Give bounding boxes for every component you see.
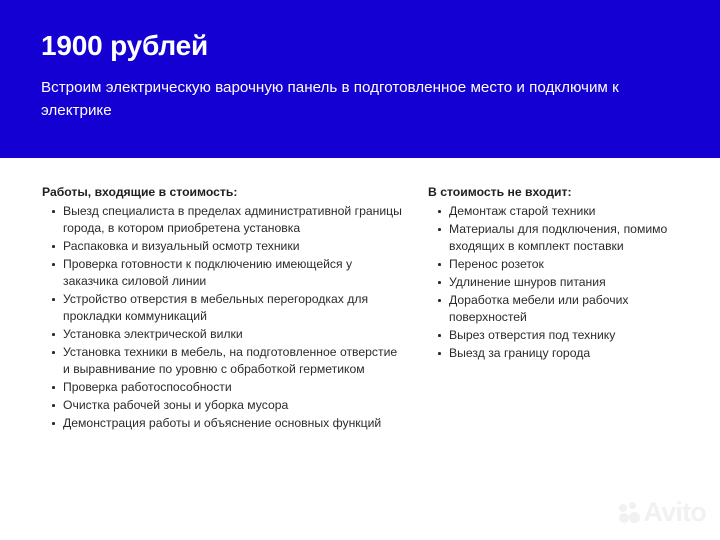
bullet-icon (438, 210, 441, 213)
list-item: Проверка готовности к подключению имеюще… (42, 256, 402, 290)
list-item: Перенос розеток (428, 256, 690, 273)
list-item-label: Распаковка и визуальный осмотр техники (63, 239, 300, 253)
service-card-page: 1900 рублей Встроим электрическую варочн… (0, 0, 720, 540)
bullet-icon (438, 263, 441, 266)
list-item: Демонтаж старой техники (428, 203, 690, 220)
list-item-label: Демонтаж старой техники (449, 204, 595, 218)
list-item: Проверка работоспособности (42, 379, 402, 396)
bullet-icon (438, 281, 441, 284)
bullet-icon (438, 334, 441, 337)
bullet-icon (438, 299, 441, 302)
excluded-list: Демонтаж старой техникиМатериалы для под… (428, 203, 690, 362)
list-item-label: Установка электрической вилки (63, 327, 243, 341)
bullet-icon (52, 386, 55, 389)
included-column: Работы, входящие в стоимость: Выезд спец… (42, 184, 402, 433)
list-item: Выезд за границу города (428, 345, 690, 362)
list-item-label: Удлинение шнуров питания (449, 275, 606, 289)
list-item-label: Проверка работоспособности (63, 380, 232, 394)
bullet-icon (52, 351, 55, 354)
list-item: Удлинение шнуров питания (428, 274, 690, 291)
list-item-label: Доработка мебели или рабочих поверхносте… (449, 293, 629, 324)
excluded-column: В стоимость не входит: Демонтаж старой т… (428, 184, 690, 363)
bullet-icon (52, 263, 55, 266)
bullet-icon (438, 352, 441, 355)
list-item: Установка электрической вилки (42, 326, 402, 343)
list-item-label: Перенос розеток (449, 257, 544, 271)
list-item: Вырез отверстия под технику (428, 327, 690, 344)
list-item: Демонстрация работы и объяснение основны… (42, 415, 402, 432)
hero-banner: 1900 рублей Встроим электрическую варочн… (0, 0, 720, 158)
list-item: Выезд специалиста в пределах администрат… (42, 203, 402, 237)
list-item: Распаковка и визуальный осмотр техники (42, 238, 402, 255)
list-item: Доработка мебели или рабочих поверхносте… (428, 292, 690, 326)
list-item: Устройство отверстия в мебельных перегор… (42, 291, 402, 325)
included-heading: Работы, входящие в стоимость: (42, 184, 402, 200)
list-item-label: Устройство отверстия в мебельных перегор… (63, 292, 368, 323)
list-item: Материалы для подключения, помимо входящ… (428, 221, 690, 255)
list-item-label: Демонстрация работы и объяснение основны… (63, 416, 381, 430)
avito-logo-icon (619, 502, 640, 523)
list-item-label: Установка техники в мебель, на подготовл… (63, 345, 397, 376)
bullet-icon (52, 298, 55, 301)
bullet-icon (52, 333, 55, 336)
list-item: Очистка рабочей зоны и уборка мусора (42, 397, 402, 414)
list-item: Установка техники в мебель, на подготовл… (42, 344, 402, 378)
excluded-heading: В стоимость не входит: (428, 184, 690, 200)
price-title: 1900 рублей (41, 29, 208, 62)
bullet-icon (52, 404, 55, 407)
hero-subtitle: Встроим электрическую варочную панель в … (41, 76, 661, 122)
list-item-label: Проверка готовности к подключению имеюще… (63, 257, 352, 288)
bullet-icon (52, 210, 55, 213)
bullet-icon (52, 245, 55, 248)
avito-wordmark: Avito (644, 499, 707, 526)
included-list: Выезд специалиста в пределах администрат… (42, 203, 402, 432)
list-item-label: Выезд за границу города (449, 346, 590, 360)
list-item-label: Очистка рабочей зоны и уборка мусора (63, 398, 288, 412)
list-item-label: Материалы для подключения, помимо входящ… (449, 222, 667, 253)
avito-watermark: Avito (619, 499, 707, 526)
list-item-label: Вырез отверстия под технику (449, 328, 615, 342)
list-item-label: Выезд специалиста в пределах администрат… (63, 204, 402, 235)
content-area: Работы, входящие в стоимость: Выезд спец… (0, 158, 720, 540)
bullet-icon (438, 228, 441, 231)
bullet-icon (52, 422, 55, 425)
